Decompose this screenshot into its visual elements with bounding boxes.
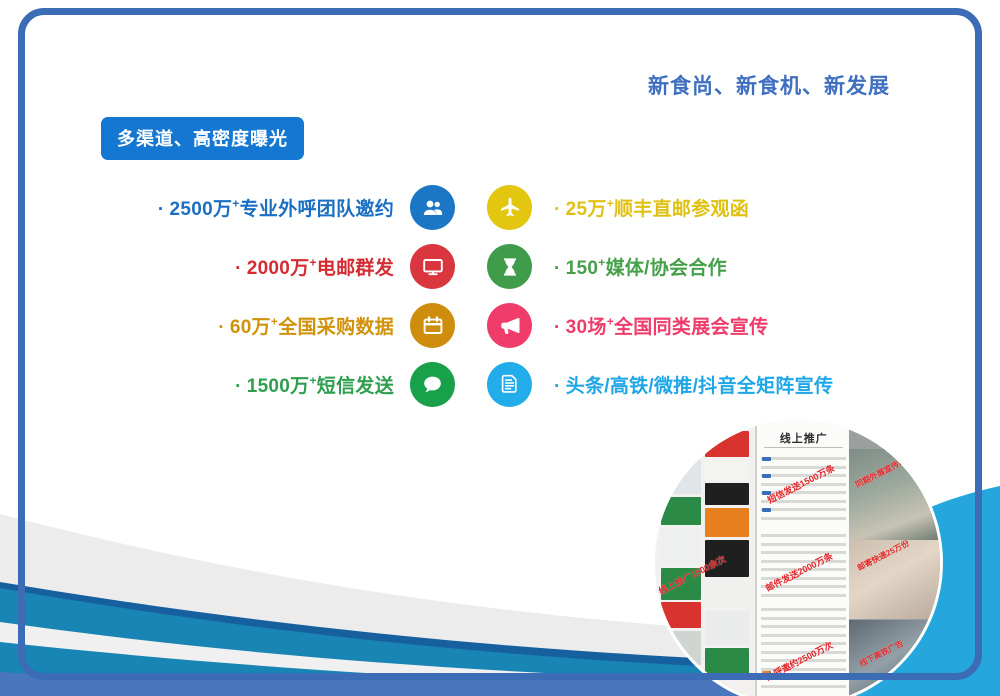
people-icon xyxy=(410,185,455,230)
promo-plus: + xyxy=(232,197,239,211)
airplane-icon xyxy=(487,185,532,230)
slide-canvas: 新食尚、新食机、新发展 多渠道、高密度曝光 ·2500万+专业外呼团队邀约 xyxy=(0,0,1000,696)
page-headline: 新食尚、新食机、新发展 xyxy=(648,70,890,100)
promo-item-email-blast: ·2000万+电邮群发 xyxy=(110,237,455,296)
promo-item-media-association: ·150+媒体/协会合作 xyxy=(487,237,917,296)
promo-number: 1500万 xyxy=(247,376,310,397)
promo-item-sms: ·1500万+短信发送 xyxy=(110,355,455,414)
promo-label: 媒体/协会合作 xyxy=(606,258,727,279)
promo-plus: + xyxy=(607,197,614,211)
collage-panel-title: 线上推广 xyxy=(757,430,851,446)
collage-inner: 线上推广1500余次 线上推广 xyxy=(655,420,940,696)
bullet-mark: · xyxy=(218,317,225,338)
bullet-mark: · xyxy=(554,317,561,338)
promo-number: 2000万 xyxy=(247,258,310,279)
promo-number: 30场 xyxy=(566,317,607,338)
promo-item-text: ·150+媒体/协会合作 xyxy=(554,253,727,280)
promo-item-text: ·头条/高铁/微推/抖音全矩阵宣传 xyxy=(554,371,833,398)
promo-label: 顺丰直邮参观函 xyxy=(614,199,749,220)
promo-item-text: ·30场+全国同类展会宣传 xyxy=(554,312,768,339)
bullet-mark: · xyxy=(554,258,561,279)
promo-label: 头条/高铁/微推/抖音全矩阵宣传 xyxy=(566,376,834,397)
calendar-icon xyxy=(410,303,455,348)
promo-plus: + xyxy=(598,256,605,270)
promo-item-text: ·2000万+电邮群发 xyxy=(235,253,394,280)
megaphone-icon xyxy=(487,303,532,348)
section-badge: 多渠道、高密度曝光 xyxy=(101,117,304,160)
hourglass-icon xyxy=(487,244,532,289)
promo-label: 电邮群发 xyxy=(317,258,394,279)
promo-label: 全国采购数据 xyxy=(278,317,394,338)
promo-item-text: ·25万+顺丰直邮参观函 xyxy=(554,194,749,221)
promo-number: 2500万 xyxy=(170,199,233,220)
collage-column-screenshots: 线上推广1500余次 xyxy=(655,420,755,696)
promo-plus: + xyxy=(607,315,614,329)
promo-label: 全国同类展会宣传 xyxy=(614,317,768,338)
bullet-mark: · xyxy=(158,199,165,220)
promo-label: 短信发送 xyxy=(317,376,394,397)
promo-column-right: ·25万+顺丰直邮参观函 ·150+媒体/协会合作 xyxy=(487,178,917,414)
promo-item-matrix-media: ·头条/高铁/微推/抖音全矩阵宣传 xyxy=(487,355,917,414)
promo-plus: + xyxy=(309,374,316,388)
monitor-icon xyxy=(410,244,455,289)
photo-collage-circle: 线上推广1500余次 线上推广 xyxy=(655,420,940,696)
bullet-mark: · xyxy=(235,258,242,279)
promo-item-purchase-data: ·60万+全国采购数据 xyxy=(110,296,455,355)
promo-number: 25万 xyxy=(566,199,607,220)
promo-number: 150 xyxy=(566,258,599,279)
promo-label: 专业外呼团队邀约 xyxy=(240,199,394,220)
promo-item-text: ·1500万+短信发送 xyxy=(235,371,394,398)
bullet-mark: · xyxy=(235,376,242,397)
promo-number: 60万 xyxy=(230,317,271,338)
promo-plus: + xyxy=(309,256,316,270)
promo-item-text: ·2500万+专业外呼团队邀约 xyxy=(158,194,394,221)
document-icon xyxy=(487,362,532,407)
promo-item-sf-express-mail: ·25万+顺丰直邮参观函 xyxy=(487,178,917,237)
promo-item-outbound-calls: ·2500万+专业外呼团队邀约 xyxy=(110,178,455,237)
collage-column-panel: 线上推广 短信发送1500万条 xyxy=(755,420,853,696)
promo-item-text: ·60万+全国采购数据 xyxy=(218,312,394,339)
bullet-mark: · xyxy=(554,199,561,220)
promo-item-expo-promotion: ·30场+全国同类展会宣传 xyxy=(487,296,917,355)
collage-column-photos: 同期外展宣传60万张 邮寄快递25万份 线下高铁广告 xyxy=(849,420,940,696)
bullet-mark: · xyxy=(554,376,561,397)
chat-bubble-icon xyxy=(410,362,455,407)
promo-column-left: ·2500万+专业外呼团队邀约 ·2000万+电邮群发 xyxy=(110,178,455,414)
